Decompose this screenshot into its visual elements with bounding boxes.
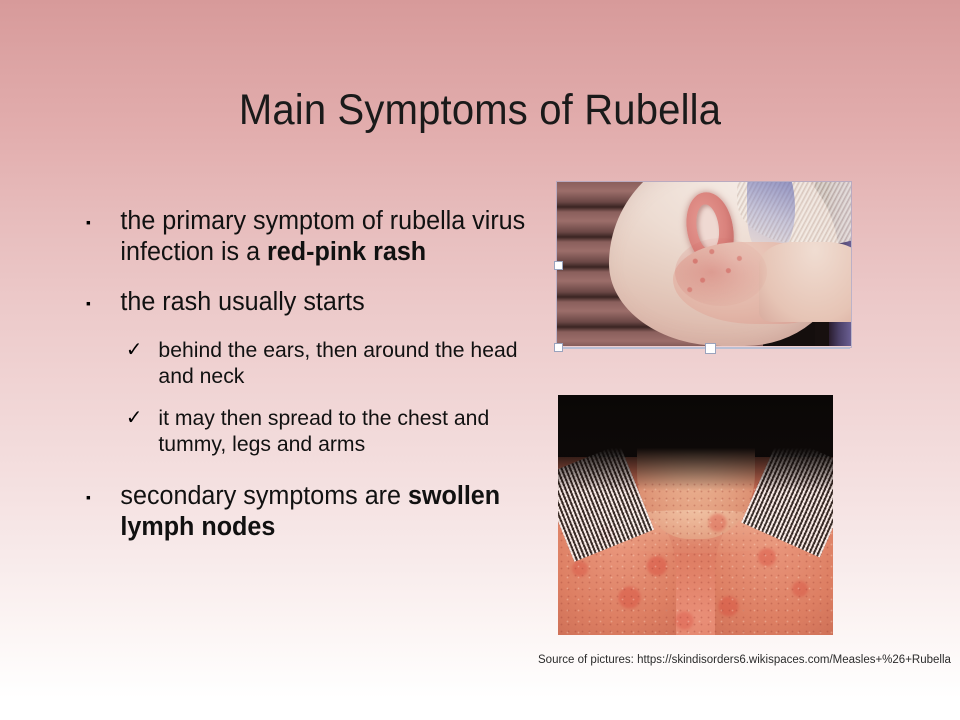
bullet-item-primary-symptom: ▪ the primary symptom of rubella virus i…: [82, 206, 545, 268]
resize-handle-bottom-center[interactable]: [705, 343, 716, 354]
square-bullet-icon: ▪: [86, 482, 91, 513]
square-bullet-icon: ▪: [86, 288, 91, 319]
bullet-text-normal: the rash usually starts: [120, 288, 364, 316]
bullet-item-rash-starts: ▪ the rash usually starts: [82, 287, 545, 318]
square-bullet-icon: ▪: [86, 207, 91, 238]
checkmark-icon: ✓: [126, 337, 143, 363]
resize-handle-bottom-left[interactable]: [554, 343, 563, 352]
image-rash-neck-chest[interactable]: [558, 395, 833, 635]
checkmark-icon: ✓: [126, 405, 143, 431]
sub-bullet-item-behind-ears: ✓ behind the ears, then around the head …: [120, 337, 546, 389]
photo-neck: [759, 242, 851, 322]
photo-rash-area: [675, 238, 767, 306]
sub-bullet-text: it may then spread to the chest and tumm…: [158, 406, 489, 456]
content-placeholder[interactable]: ▪ the primary symptom of rubella virus i…: [82, 206, 552, 562]
source-caption: Source of pictures: https://skindisorder…: [538, 652, 950, 668]
sub-bullet-item-spread: ✓ it may then spread to the chest and tu…: [120, 405, 546, 457]
sub-bullet-list: ✓ behind the ears, then around the head …: [82, 337, 552, 457]
sub-bullet-text: behind the ears, then around the head an…: [158, 338, 517, 388]
resize-handle-middle-left[interactable]: [554, 261, 563, 270]
slide-canvas: Main Symptoms of Rubella ▪ the primary s…: [0, 0, 960, 720]
bullet-item-secondary-symptoms: ▪ secondary symptoms are swollen lymph n…: [82, 481, 545, 543]
image-rash-behind-ear[interactable]: [557, 182, 851, 346]
bullet-text-bold: red-pink rash: [267, 238, 426, 266]
bullet-text-normal: secondary symptoms are: [120, 482, 408, 510]
photo-head: [609, 182, 839, 346]
image-selection-line-bottom: [558, 347, 850, 349]
page-title: Main Symptoms of Rubella: [34, 84, 927, 136]
